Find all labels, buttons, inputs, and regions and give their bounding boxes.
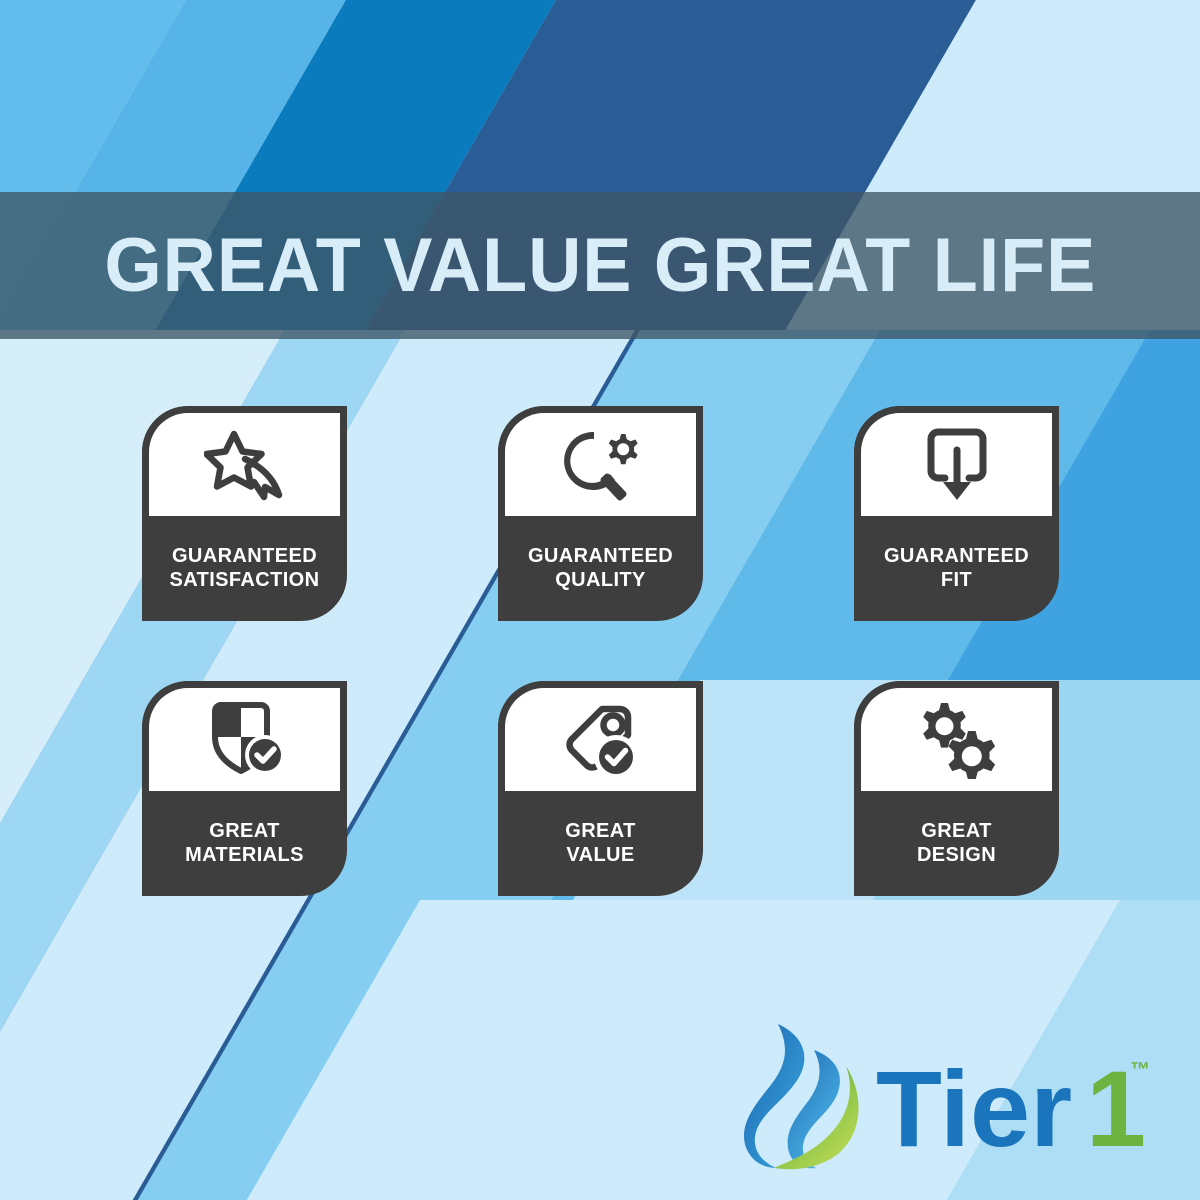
badge-label-line2: QUALITY <box>555 569 646 592</box>
logo-trademark: ™ <box>1130 1059 1150 1081</box>
badge-card[interactable]: GREAT VALUE <box>498 681 703 896</box>
badge-label: GREAT MATERIALS <box>142 791 347 896</box>
magnifier-gear-icon <box>498 406 703 516</box>
badge-card[interactable]: GREAT MATERIALS <box>142 681 347 896</box>
badge-label: GUARANTEED SATISFACTION <box>142 516 347 621</box>
badge-label: GUARANTEED QUALITY <box>498 516 703 621</box>
badge-card[interactable]: GUARANTEED FIT <box>854 406 1059 621</box>
box-down-arrow-icon <box>854 406 1059 516</box>
tier1-logo: Tier 1 ™ <box>716 1018 1156 1178</box>
shooting-star-icon <box>142 406 347 516</box>
two-gears-icon <box>854 681 1059 791</box>
badge-label: GREAT DESIGN <box>854 791 1059 896</box>
logo-wordmark-tier: Tier <box>876 1048 1072 1169</box>
badge-label-line1: GUARANTEED <box>528 545 673 568</box>
price-tag-check-icon <box>498 681 703 791</box>
banner-title: GREAT VALUE GREAT LIFE <box>94 228 1105 304</box>
badge-label: GREAT VALUE <box>498 791 703 896</box>
promo-graphic: GREAT VALUE GREAT LIFE GUARANTEED SATISF… <box>0 0 1200 1200</box>
headline-banner: GREAT VALUE GREAT LIFE <box>0 192 1200 339</box>
badge-grid: GUARANTEED SATISFACTION GUARANTEED QUALI <box>142 406 1062 896</box>
badge-card[interactable]: GUARANTEED QUALITY <box>498 406 703 621</box>
badge-label-line1: GREAT <box>565 820 636 843</box>
badge-label: GUARANTEED FIT <box>854 516 1059 621</box>
badge-label-line1: GREAT <box>209 820 280 843</box>
badge-label-line2: SATISFACTION <box>170 569 320 592</box>
badge-label-line1: GUARANTEED <box>884 545 1029 568</box>
shield-check-icon <box>142 681 347 791</box>
badge-card[interactable]: GUARANTEED SATISFACTION <box>142 406 347 621</box>
badge-label-line2: DESIGN <box>917 844 996 867</box>
badge-label-line1: GREAT <box>921 820 992 843</box>
badge-label-line2: FIT <box>941 569 972 592</box>
badge-label-line2: MATERIALS <box>185 844 304 867</box>
badge-card[interactable]: GREAT DESIGN <box>854 681 1059 896</box>
badge-label-line2: VALUE <box>566 844 634 867</box>
badge-label-line1: GUARANTEED <box>172 545 317 568</box>
